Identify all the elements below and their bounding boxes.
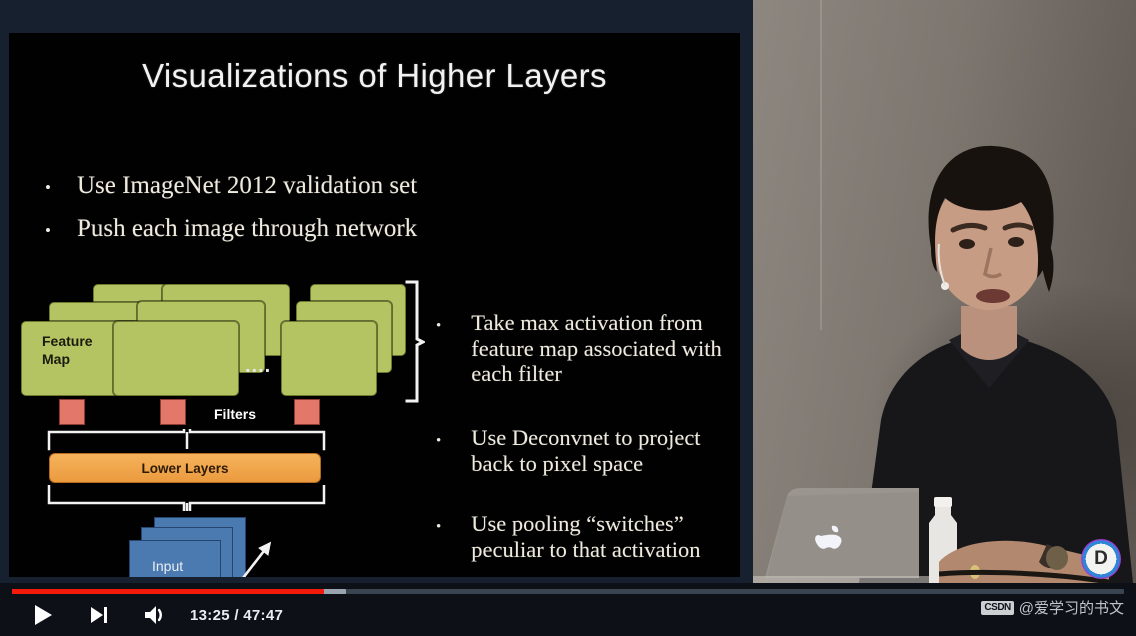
laptop [753, 470, 943, 583]
filter-square [59, 399, 85, 425]
play-button[interactable] [22, 594, 64, 636]
next-video-button[interactable] [78, 594, 120, 636]
slide-right-bullet-1: • Take max activation from feature map a… [436, 310, 736, 387]
network-diagram: Feature Map .... [9, 33, 429, 577]
volume-on-icon [143, 604, 167, 626]
feature-map-card-front [281, 321, 377, 396]
watermark-handle: @爱学习的书文 [1019, 597, 1124, 618]
watermark: CSDN @爱学习的书文 [981, 597, 1124, 618]
volume-button[interactable] [134, 594, 176, 636]
play-icon [33, 604, 53, 626]
presentation-slide: Visualizations of Higher Layers • Use Im… [9, 33, 740, 577]
csdn-logo: CSDN [981, 601, 1013, 615]
slide-right-bullet-3-text: Use pooling “switches” peculiar to that … [471, 511, 736, 562]
slide-right-bullet-3: • Use pooling “switches” peculiar to tha… [436, 511, 736, 562]
video-player-page: Visualizations of Higher Layers • Use Im… [0, 0, 1136, 636]
video-stage[interactable]: Visualizations of Higher Layers • Use Im… [0, 0, 1136, 583]
channel-badge: D [1081, 539, 1121, 579]
control-row: 13:25 / 47:47 [0, 594, 1136, 636]
slide-pane: Visualizations of Higher Layers • Use Im… [0, 0, 753, 583]
input-image-label: Input Image [152, 557, 191, 577]
upper-brace-icon [47, 429, 327, 453]
player-controls: 13:25 / 47:47 CSDN @爱学习的书文 [0, 583, 1136, 636]
slide-right-bullet-1-text: Take max activation from feature map ass… [471, 310, 736, 387]
camera-feed [753, 0, 1136, 583]
feature-map-card-front [113, 321, 239, 396]
lower-layers-box: Lower Layers [49, 453, 321, 483]
slide-right-bullet-2: • Use Deconvnet to project back to pixel… [436, 425, 736, 476]
slide-right-bullet-2-text: Use Deconvnet to project back to pixel s… [471, 425, 736, 476]
time-display: 13:25 / 47:47 [190, 607, 283, 624]
feature-map-brace-icon [403, 279, 425, 405]
filter-square [294, 399, 320, 425]
wall-seam [820, 0, 822, 330]
lower-brace-icon [47, 485, 327, 511]
next-track-icon [89, 605, 109, 625]
ellipsis-indicator: .... [245, 355, 271, 378]
bullet-marker-icon: • [436, 520, 441, 535]
bullet-marker-icon: • [436, 434, 441, 449]
filter-square [160, 399, 186, 425]
filters-label: Filters [214, 406, 256, 422]
bullet-marker-icon: • [436, 319, 441, 334]
double-arrow-icon [227, 541, 273, 577]
